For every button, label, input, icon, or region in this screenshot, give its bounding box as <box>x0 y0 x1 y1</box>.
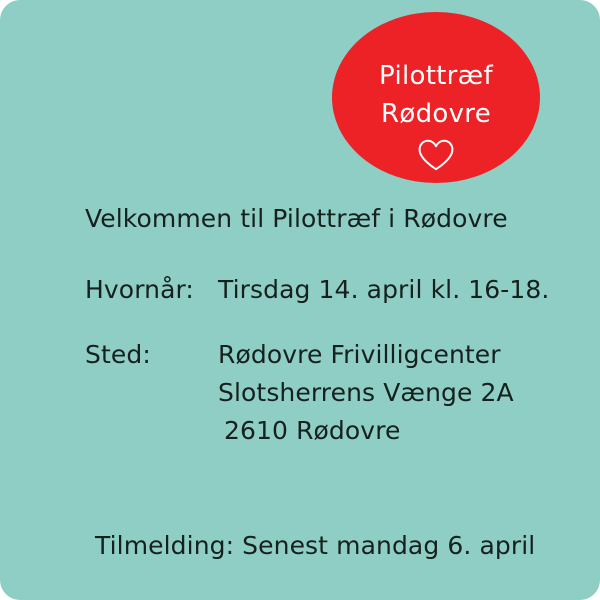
event-badge: Pilottræf Rødovre <box>332 12 540 183</box>
event-poster: Pilottræf Rødovre Velkommen til Pilottræ… <box>0 0 600 600</box>
place-venue: Rødovre Frivilligcenter <box>218 340 501 370</box>
place-street: Slotsherrens Vænge 2A <box>218 378 514 408</box>
when-label: Hvornår: <box>85 275 194 305</box>
badge-title-line-1: Pilottræf <box>379 57 493 95</box>
when-value: Tirsdag 14. april kl. 16-18. <box>218 275 549 305</box>
signup-deadline: Tilmelding: Senest mandag 6. april <box>95 531 535 561</box>
place-label: Sted: <box>85 340 151 370</box>
heart-icon <box>417 139 455 171</box>
badge-title-line-2: Rødovre <box>381 95 491 133</box>
place-city: 2610 Rødovre <box>224 416 401 446</box>
welcome-heading: Velkommen til Pilottræf i Rødovre <box>85 204 508 234</box>
